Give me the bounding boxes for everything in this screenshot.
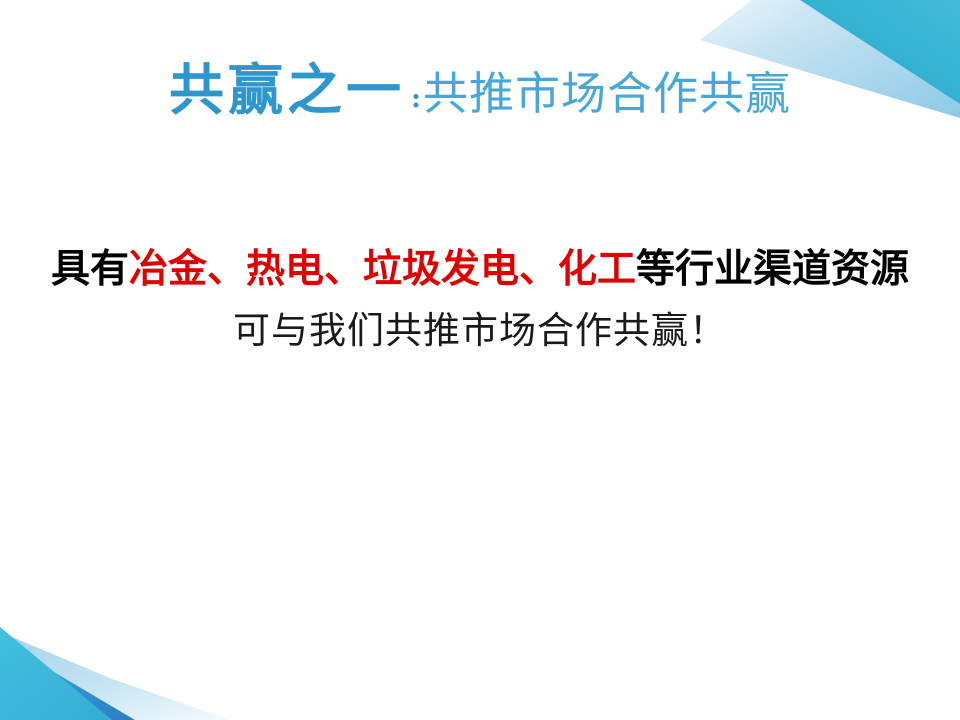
title-main-text: 共赢之一 (169, 57, 405, 122)
body-line-1-segment-3: 等行业渠道资源 (636, 248, 909, 291)
title-separator: : (405, 83, 423, 114)
top-right-pale-wedge (735, 0, 960, 30)
slide-title: 共赢之一:共推市场合作共赢 (0, 62, 960, 117)
bottom-left-cyan-triangle (0, 627, 112, 720)
body-line-1-segment-highlight: 冶金、热电、垃圾发电、化工 (129, 248, 636, 291)
body-line-1-segment-1: 具有 (51, 248, 129, 291)
slide-canvas: 共赢之一:共推市场合作共赢 具有冶金、热电、垃圾发电、化工等行业渠道资源 可与我… (0, 0, 960, 720)
body-line-1: 具有冶金、热电、垃圾发电、化工等行业渠道资源 (0, 238, 960, 301)
body-line-2: 可与我们共推市场合作共赢！ (0, 301, 960, 361)
body-line-2-segment-1: 可与我们共推市场合作共赢！ (233, 310, 727, 351)
bottom-left-light-band (0, 632, 210, 720)
title-sub-text: 共推市场合作共赢 (423, 67, 791, 120)
bottom-left-pale-wedge (0, 640, 230, 720)
slide-body: 具有冶金、热电、垃圾发电、化工等行业渠道资源 可与我们共推市场合作共赢！ (0, 238, 960, 361)
bottom-left-decoration (0, 627, 230, 720)
bottom-left-mid-triangle (0, 640, 135, 720)
